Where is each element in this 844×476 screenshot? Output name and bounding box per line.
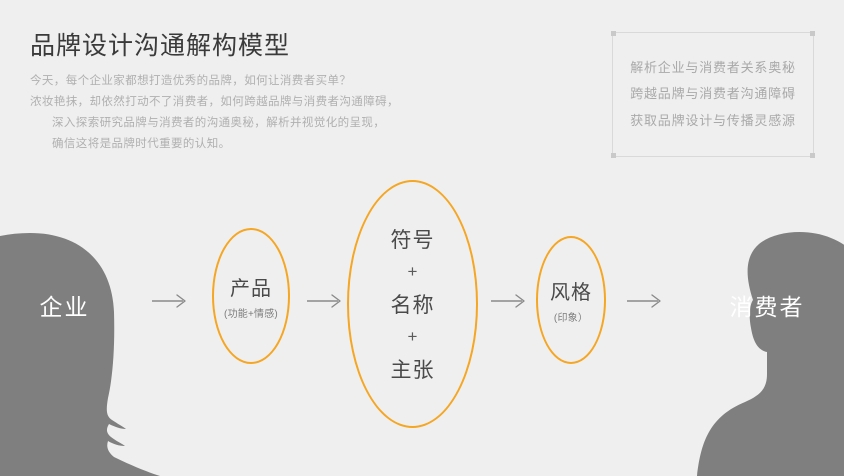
core-node-content: 符号 + 名称 + 主张 xyxy=(349,222,476,386)
product-subtitle: (功能+情感) xyxy=(214,305,288,320)
enterprise-label: 企业 xyxy=(12,288,117,322)
arrow-right-icon xyxy=(305,292,345,310)
arrow-right-icon xyxy=(489,292,529,310)
product-title: 产品 xyxy=(214,272,288,301)
core-line-2: 名称 xyxy=(349,289,476,319)
core-plus-2: + xyxy=(349,328,476,345)
slide-canvas: 品牌设计沟通解构模型 今天，每个企业家都想打造优秀的品牌，如何让消费者买单？ 浓… xyxy=(0,0,844,476)
flow-diagram: 企业 产品 (功能+情感) 符号 + 名称 + 主张 xyxy=(0,0,844,476)
style-node: 风格 (印象） xyxy=(536,236,606,364)
core-line-1: 符号 xyxy=(349,224,476,254)
style-title: 风格 xyxy=(538,276,604,305)
style-subtitle: (印象） xyxy=(538,309,604,324)
style-node-content: 风格 (印象） xyxy=(538,276,604,324)
core-line-3: 主张 xyxy=(349,354,476,384)
arrow-right-icon xyxy=(625,292,665,310)
arrow-right-icon xyxy=(150,292,190,310)
consumer-label: 消费者 xyxy=(712,288,822,322)
product-node-content: 产品 (功能+情感) xyxy=(214,272,288,320)
core-node: 符号 + 名称 + 主张 xyxy=(347,180,478,428)
core-plus-1: + xyxy=(349,263,476,280)
product-node: 产品 (功能+情感) xyxy=(212,228,290,364)
